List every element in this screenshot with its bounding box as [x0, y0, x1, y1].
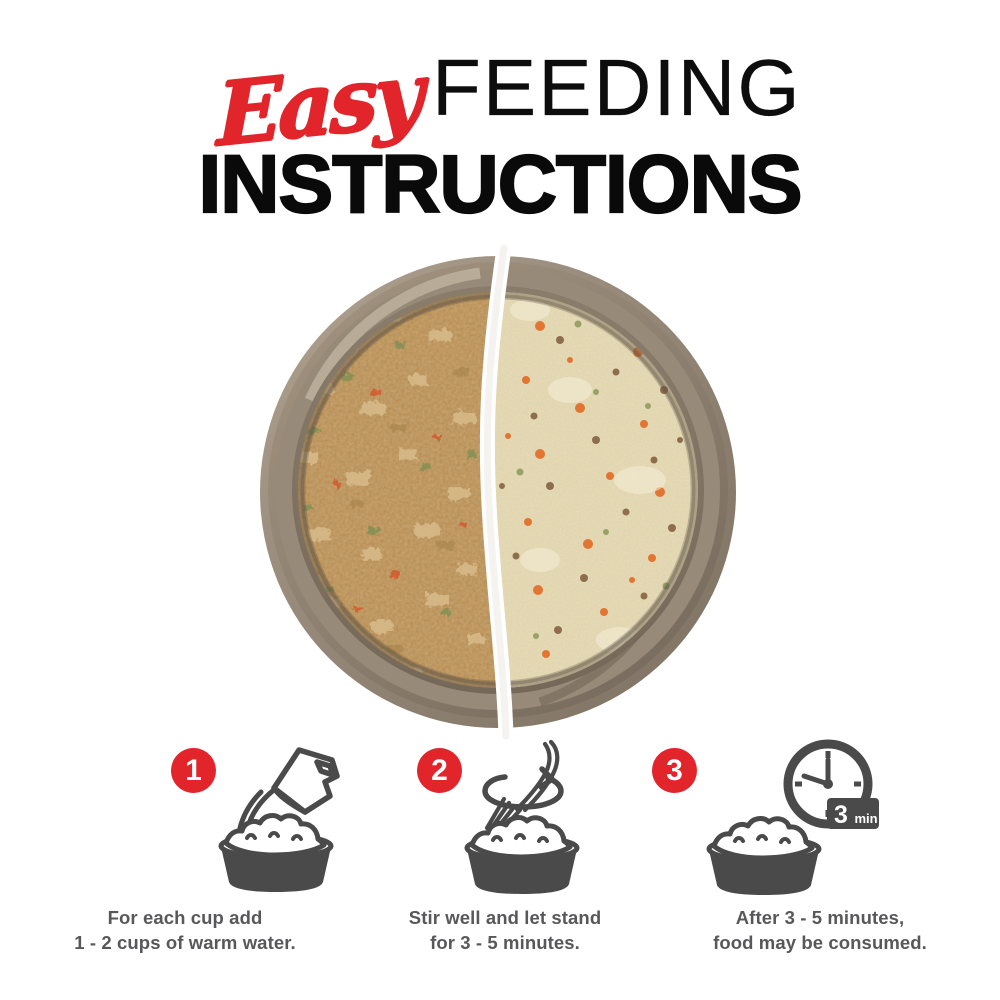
step-2-art: 2 [345, 738, 665, 898]
clock-timer-bowl-icon: 3 min [700, 738, 890, 898]
title-bold-instructions: INSTRUCTIONS [0, 144, 1000, 226]
step-3-number: 3 [666, 756, 683, 786]
timer-badge: 3 min [827, 798, 879, 829]
step-1-art: 1 [25, 738, 345, 898]
step-3-art: 3 [660, 738, 980, 898]
full-bowl-icon [709, 819, 819, 895]
title-line-primary: Easy FEEDING [0, 34, 1000, 130]
step-3-number-badge: 3 [652, 748, 697, 793]
poster-header: Easy FEEDING INSTRUCTIONS [0, 34, 1000, 226]
pouring-cup-into-bowl-icon [217, 740, 347, 895]
timer-unit: min [854, 811, 877, 826]
step-2: 2 [345, 738, 665, 978]
step-2-number-badge: 2 [417, 748, 462, 793]
steps-row: 1 [0, 738, 1000, 978]
title-script-easy: Easy [217, 54, 420, 157]
title-light-feeding: FEEDING [432, 48, 802, 128]
step-1-number-badge: 1 [171, 748, 216, 793]
step-2-caption: Stir well and let stand for 3 - 5 minute… [345, 906, 665, 956]
poster-canvas: Easy FEEDING INSTRUCTIONS [0, 0, 1000, 1000]
step-2-number: 2 [431, 756, 448, 786]
food-bowl-image [240, 240, 760, 740]
step-1: 1 [25, 738, 345, 978]
step-1-caption: For each cup add 1 - 2 cups of warm wate… [25, 906, 345, 956]
timer-value: 3 [834, 801, 848, 829]
step-3-caption: After 3 - 5 minutes, food may be consume… [660, 906, 980, 956]
fork-stirring-bowl-icon [463, 736, 593, 894]
step-3: 3 [660, 738, 980, 978]
step-1-number: 1 [185, 756, 202, 786]
